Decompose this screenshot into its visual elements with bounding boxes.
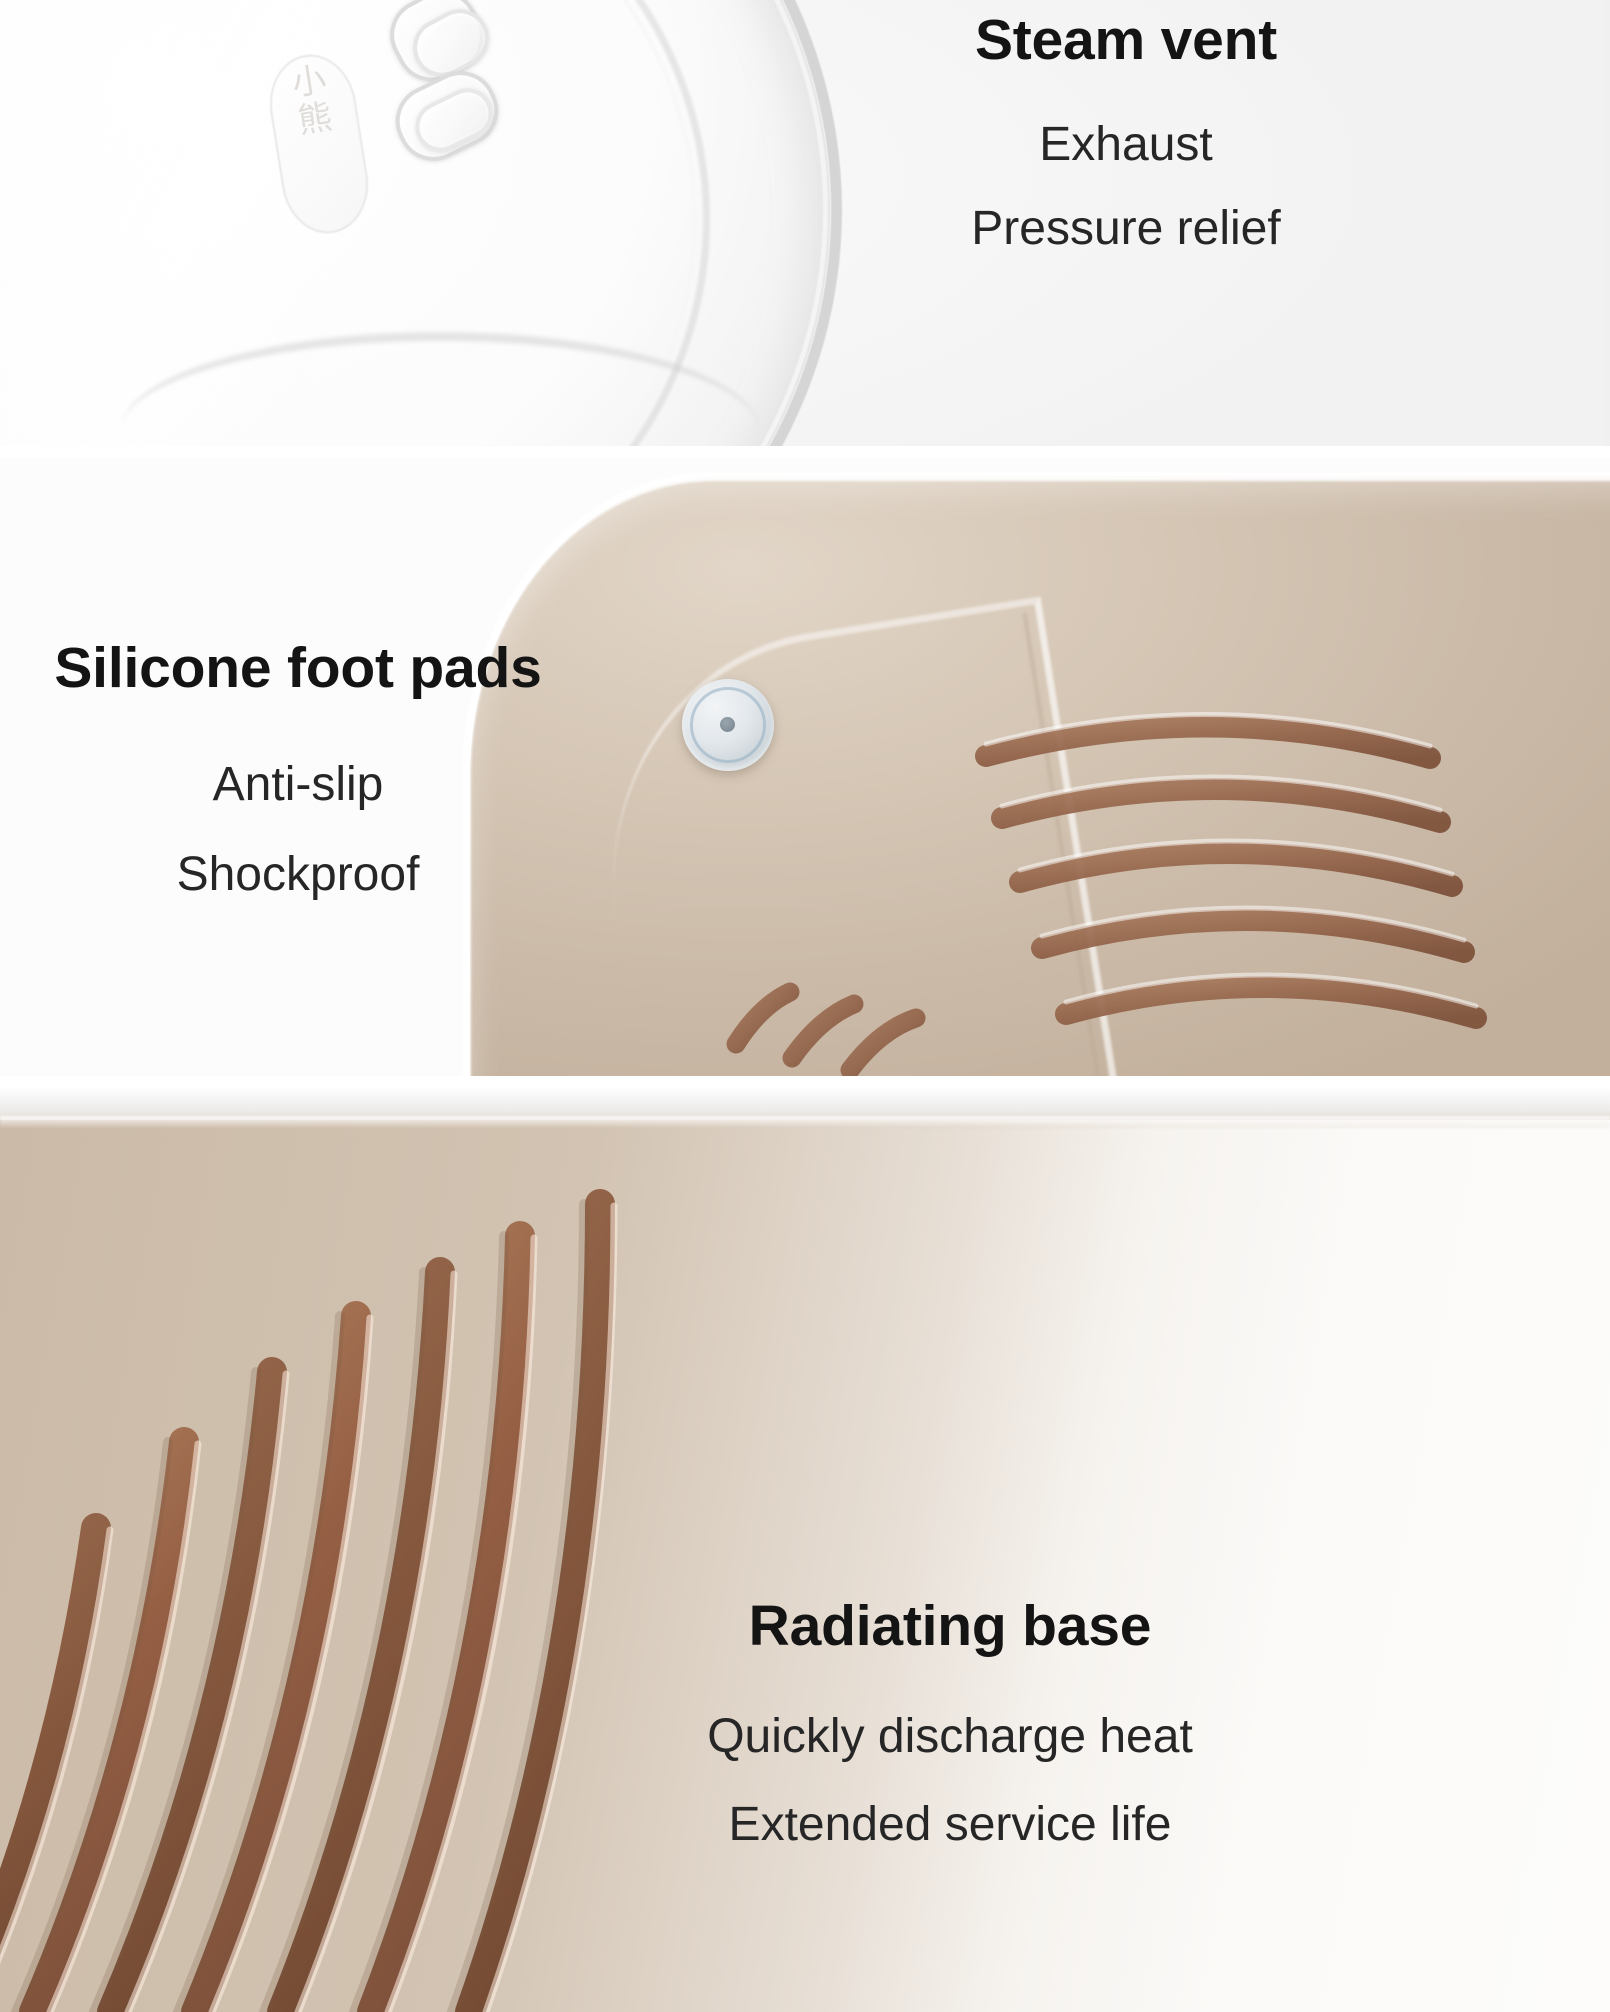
steam-vent-text-block: Steam vent Exhaust Pressure relief [806,12,1446,289]
panel-silicone-foot-pads: Silicone foot pads Anti-slip Shockproof [0,458,1610,1076]
silicone-foot-pads-text-block: Silicone foot pads Anti-slip Shockproof [18,640,578,941]
panel-steam-vent: 小熊 Steam vent Exhaust Pressure relief [0,0,1610,446]
panel-radiating-base: Radiating base Quickly discharge heat Ex… [0,1086,1610,2012]
radiating-base-heading: Radiating base [640,1598,1260,1655]
silicone-foot-pads-heading: Silicone foot pads [18,640,578,697]
steam-vent-line-2: Pressure relief [806,205,1446,253]
steam-vent-line-1: Exhaust [806,121,1446,169]
panel-steam-right-seam [1596,0,1610,446]
radiating-base-line-2: Extended service life [640,1801,1260,1849]
silicone-foot-pad-center-dot [720,717,735,732]
panel-gutter-2 [0,1076,1610,1086]
radiating-base-text-block: Radiating base Quickly discharge heat Ex… [640,1598,1260,1889]
panel-gutter-1 [0,446,1610,458]
glass-lid-bottom-edge [120,332,760,446]
product-feature-infographic: 小熊 Steam vent Exhaust Pressure relief [0,0,1610,2012]
silicone-foot-pads-line-2: Shockproof [18,851,578,899]
silicone-foot-pads-line-1: Anti-slip [18,761,578,809]
steam-vent-heading: Steam vent [806,12,1446,69]
radiating-base-line-1: Quickly discharge heat [640,1713,1260,1761]
